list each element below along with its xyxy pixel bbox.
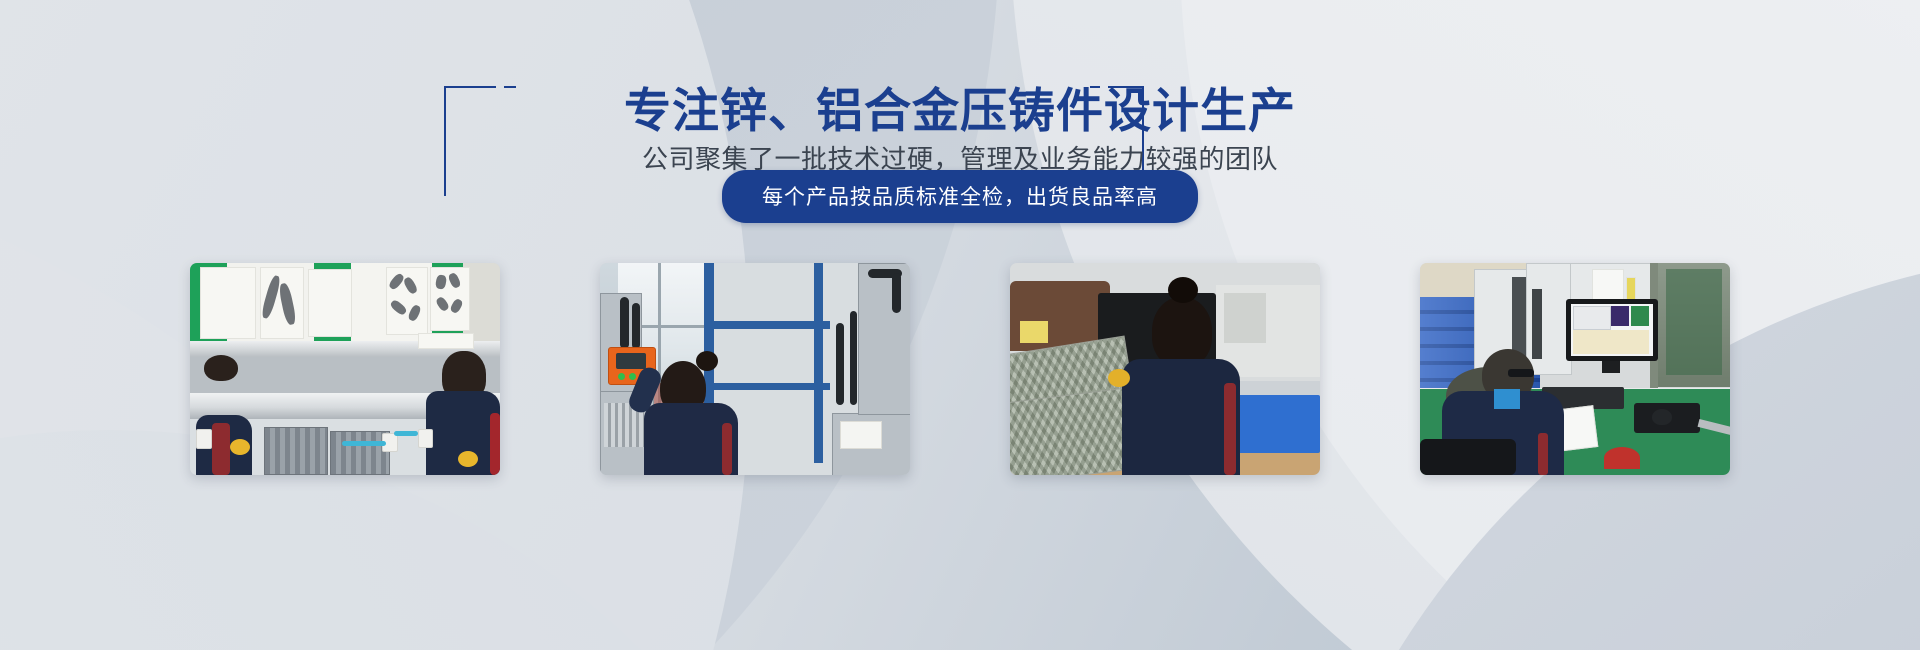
photo-gallery — [150, 247, 1770, 459]
highlight-badge-wrap: 每个产品按品质标准全检，出货良品率高 — [0, 170, 1920, 223]
photo-inspection-bench[interactable] — [190, 263, 500, 475]
status-badge: 每个产品按品质标准全检，出货良品率高 — [722, 170, 1198, 223]
photo-packing-station[interactable] — [1010, 263, 1320, 475]
banner-root: 专注锌、铝合金压铸件设计生产 公司聚集了一批技术过硬，管理及业务能力较强的团队 … — [0, 0, 1920, 650]
page-title: 专注锌、铝合金压铸件设计生产 — [0, 87, 1920, 134]
photo-die-casting-machine[interactable] — [600, 263, 910, 475]
photo-measuring-room[interactable] — [1420, 263, 1730, 475]
